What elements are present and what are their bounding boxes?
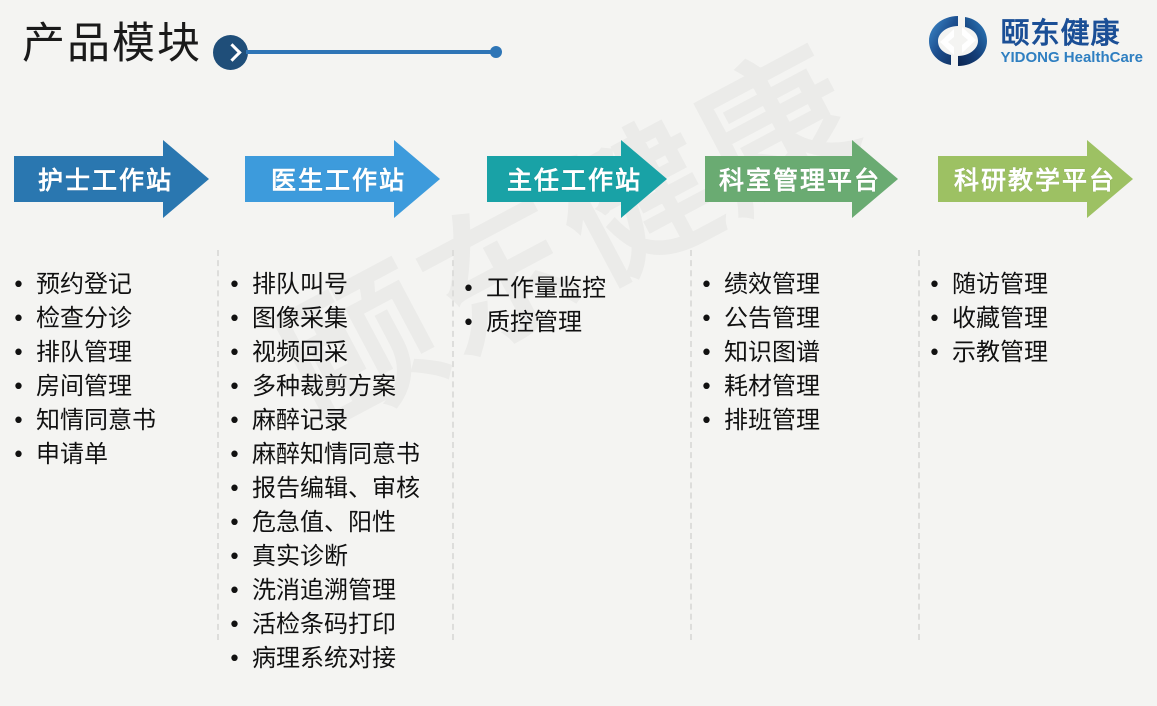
list-item[interactable]: •耗材管理 bbox=[700, 370, 820, 404]
list-item-label: 麻醉知情同意书 bbox=[252, 438, 420, 470]
accent-end-dot bbox=[490, 46, 502, 58]
arrow-banner-row: 护士工作站医生工作站主任工作站科室管理平台科研教学平台 bbox=[0, 140, 1157, 220]
column-research-teaching-platform: •随访管理•收藏管理•示教管理 bbox=[928, 268, 1048, 370]
list-item-label: 质控管理 bbox=[486, 306, 582, 338]
list-item[interactable]: •图像采集 bbox=[228, 302, 420, 336]
arrow-banner-label: 科室管理平台 bbox=[719, 161, 881, 197]
arrow-banner-department-management-platform[interactable]: 科室管理平台 bbox=[705, 140, 898, 218]
list-item[interactable]: •知识图谱 bbox=[700, 336, 820, 370]
arrow-banner-label: 护士工作站 bbox=[38, 161, 173, 197]
column-divider-2 bbox=[452, 250, 454, 640]
bullet-dot-icon: • bbox=[700, 406, 724, 438]
bullet-dot-icon: • bbox=[228, 474, 252, 506]
bullet-dot-icon: • bbox=[700, 304, 724, 336]
arrow-banner-label: 科研教学平台 bbox=[954, 161, 1116, 197]
list-item[interactable]: •麻醉知情同意书 bbox=[228, 438, 420, 472]
bullet-dot-icon: • bbox=[700, 372, 724, 404]
feature-list-department-management-platform: •绩效管理•公告管理•知识图谱•耗材管理•排班管理 bbox=[700, 268, 820, 438]
list-item-label: 收藏管理 bbox=[952, 302, 1048, 334]
arrow-banner-doctor-workstation[interactable]: 医生工作站 bbox=[245, 140, 440, 218]
feature-list-research-teaching-platform: •随访管理•收藏管理•示教管理 bbox=[928, 268, 1048, 370]
list-item-label: 知识图谱 bbox=[724, 336, 820, 368]
list-item-label: 绩效管理 bbox=[724, 268, 820, 300]
brand-logo: 颐东健康 YIDONG HealthCare bbox=[924, 10, 1143, 72]
feature-list-director-workstation: •工作量监控•质控管理 bbox=[462, 272, 606, 340]
list-item[interactable]: •报告编辑、审核 bbox=[228, 472, 420, 506]
bullet-dot-icon: • bbox=[228, 270, 252, 302]
list-item-label: 申请单 bbox=[36, 438, 108, 470]
bullet-dot-icon: • bbox=[228, 508, 252, 540]
list-item[interactable]: •视频回采 bbox=[228, 336, 420, 370]
column-director-workstation: •工作量监控•质控管理 bbox=[462, 272, 606, 340]
list-item[interactable]: •真实诊断 bbox=[228, 540, 420, 574]
bullet-dot-icon: • bbox=[228, 406, 252, 438]
list-item-label: 知情同意书 bbox=[36, 404, 156, 436]
list-item[interactable]: •房间管理 bbox=[12, 370, 156, 404]
arrow-banner-research-teaching-platform[interactable]: 科研教学平台 bbox=[938, 140, 1133, 218]
list-item[interactable]: •申请单 bbox=[12, 438, 156, 472]
bullet-dot-icon: • bbox=[228, 338, 252, 370]
list-item[interactable]: •排队叫号 bbox=[228, 268, 420, 302]
list-item[interactable]: •预约登记 bbox=[12, 268, 156, 302]
list-item[interactable]: •危急值、阳性 bbox=[228, 506, 420, 540]
arrow-banner-director-workstation[interactable]: 主任工作站 bbox=[487, 140, 667, 218]
chevron-right-glyph bbox=[223, 43, 241, 61]
list-item[interactable]: •排队管理 bbox=[12, 336, 156, 370]
bullet-dot-icon: • bbox=[928, 338, 952, 370]
bullet-dot-icon: • bbox=[928, 304, 952, 336]
list-item-label: 麻醉记录 bbox=[252, 404, 348, 436]
list-item-label: 排队管理 bbox=[36, 336, 132, 368]
bullet-dot-icon: • bbox=[700, 270, 724, 302]
bullet-dot-icon: • bbox=[700, 338, 724, 370]
arrow-banner-nurse-workstation[interactable]: 护士工作站 bbox=[14, 140, 209, 218]
list-item-label: 多种裁剪方案 bbox=[252, 370, 396, 402]
bullet-dot-icon: • bbox=[12, 440, 36, 472]
list-item-label: 报告编辑、审核 bbox=[252, 472, 420, 504]
logo-name-cn: 颐东健康 bbox=[1000, 17, 1143, 49]
list-item[interactable]: •公告管理 bbox=[700, 302, 820, 336]
list-item[interactable]: •麻醉记录 bbox=[228, 404, 420, 438]
bullet-dot-icon: • bbox=[228, 576, 252, 608]
list-item-label: 病理系统对接 bbox=[252, 642, 396, 674]
list-item-label: 危急值、阳性 bbox=[252, 506, 396, 538]
list-item-label: 随访管理 bbox=[952, 268, 1048, 300]
column-doctor-workstation: •排队叫号•图像采集•视频回采•多种裁剪方案•麻醉记录•麻醉知情同意书•报告编辑… bbox=[228, 268, 420, 676]
list-item[interactable]: •质控管理 bbox=[462, 306, 606, 340]
list-item-label: 房间管理 bbox=[36, 370, 132, 402]
list-item[interactable]: •排班管理 bbox=[700, 404, 820, 438]
list-item-label: 耗材管理 bbox=[724, 370, 820, 402]
feature-columns: •预约登记•检查分诊•排队管理•房间管理•知情同意书•申请单•排队叫号•图像采集… bbox=[0, 250, 1157, 640]
list-item[interactable]: •收藏管理 bbox=[928, 302, 1048, 336]
bullet-dot-icon: • bbox=[228, 372, 252, 404]
chevron-right-icon bbox=[213, 35, 248, 70]
list-item[interactable]: •知情同意书 bbox=[12, 404, 156, 438]
arrow-banner-label: 主任工作站 bbox=[507, 161, 642, 197]
header: 产品模块 bbox=[0, 0, 1157, 95]
bullet-dot-icon: • bbox=[928, 270, 952, 302]
list-item-label: 视频回采 bbox=[252, 336, 348, 368]
list-item-label: 公告管理 bbox=[724, 302, 820, 334]
list-item[interactable]: •病理系统对接 bbox=[228, 642, 420, 676]
bullet-dot-icon: • bbox=[228, 542, 252, 574]
list-item[interactable]: •随访管理 bbox=[928, 268, 1048, 302]
list-item-label: 排班管理 bbox=[724, 404, 820, 436]
bullet-dot-icon: • bbox=[228, 644, 252, 676]
column-divider-3 bbox=[690, 250, 692, 640]
column-department-management-platform: •绩效管理•公告管理•知识图谱•耗材管理•排班管理 bbox=[700, 268, 820, 438]
list-item-label: 预约登记 bbox=[36, 268, 132, 300]
list-item[interactable]: •绩效管理 bbox=[700, 268, 820, 302]
feature-list-nurse-workstation: •预约登记•检查分诊•排队管理•房间管理•知情同意书•申请单 bbox=[12, 268, 156, 472]
bullet-dot-icon: • bbox=[12, 372, 36, 404]
list-item-label: 真实诊断 bbox=[252, 540, 348, 572]
list-item-label: 活检条码打印 bbox=[252, 608, 396, 640]
bullet-dot-icon: • bbox=[12, 304, 36, 336]
accent-line bbox=[246, 50, 496, 54]
list-item-label: 示教管理 bbox=[952, 336, 1048, 368]
list-item[interactable]: •工作量监控 bbox=[462, 272, 606, 306]
logo-name-en: YIDONG HealthCare bbox=[1000, 49, 1143, 66]
list-item-label: 排队叫号 bbox=[252, 268, 348, 300]
column-divider-1 bbox=[217, 250, 219, 640]
page-title: 产品模块 bbox=[22, 16, 202, 72]
bullet-dot-icon: • bbox=[228, 610, 252, 642]
list-item-label: 洗消追溯管理 bbox=[252, 574, 396, 606]
list-item-label: 图像采集 bbox=[252, 302, 348, 334]
logo-text: 颐东健康 YIDONG HealthCare bbox=[1000, 17, 1143, 66]
title-accent-decoration bbox=[213, 32, 503, 72]
column-nurse-workstation: •预约登记•检查分诊•排队管理•房间管理•知情同意书•申请单 bbox=[12, 268, 156, 472]
list-item-label: 工作量监控 bbox=[486, 272, 606, 304]
list-item[interactable]: •多种裁剪方案 bbox=[228, 370, 420, 404]
column-divider-4 bbox=[918, 250, 920, 640]
list-item[interactable]: •活检条码打印 bbox=[228, 608, 420, 642]
bullet-dot-icon: • bbox=[462, 274, 486, 306]
list-item[interactable]: •检查分诊 bbox=[12, 302, 156, 336]
bullet-dot-icon: • bbox=[228, 440, 252, 472]
arrow-banner-label: 医生工作站 bbox=[271, 161, 406, 197]
bullet-dot-icon: • bbox=[228, 304, 252, 336]
bullet-dot-icon: • bbox=[12, 270, 36, 302]
bullet-dot-icon: • bbox=[12, 406, 36, 438]
feature-list-doctor-workstation: •排队叫号•图像采集•视频回采•多种裁剪方案•麻醉记录•麻醉知情同意书•报告编辑… bbox=[228, 268, 420, 676]
bullet-dot-icon: • bbox=[462, 308, 486, 340]
bullet-dot-icon: • bbox=[12, 338, 36, 370]
list-item[interactable]: •洗消追溯管理 bbox=[228, 574, 420, 608]
list-item-label: 检查分诊 bbox=[36, 302, 132, 334]
yidong-logo-mark-icon bbox=[924, 13, 992, 69]
list-item[interactable]: •示教管理 bbox=[928, 336, 1048, 370]
